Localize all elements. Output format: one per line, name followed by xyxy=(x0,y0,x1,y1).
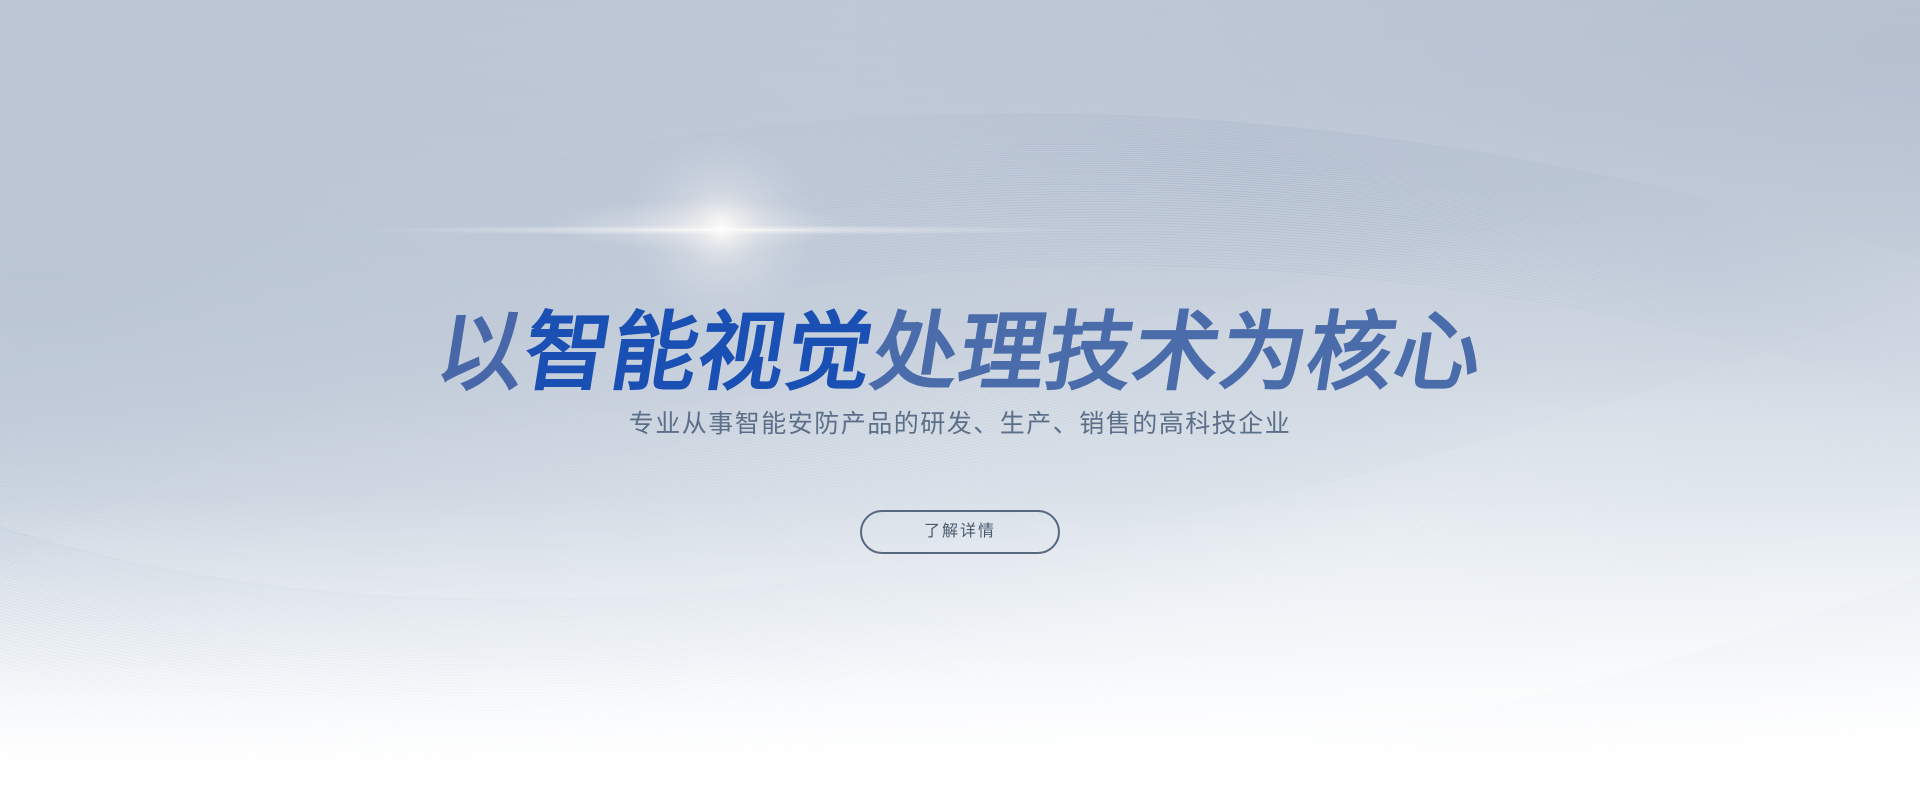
learn-more-button[interactable]: 了解详情 xyxy=(860,510,1060,554)
hero-banner: 以智能视觉处理技术为核心 专业从事智能安防产品的研发、生产、销售的高科技企业 了… xyxy=(0,0,1920,800)
headline-segment-3: 处理技术为核心 xyxy=(866,310,1489,396)
banner-headline: 以智能视觉处理技术为核心 xyxy=(0,310,1920,396)
cta-container: 了解详情 xyxy=(0,510,1920,554)
banner-subtitle: 专业从事智能安防产品的研发、生产、销售的高科技企业 xyxy=(0,404,1920,440)
headline-segment-1: 以 xyxy=(431,310,532,396)
headline-segment-2: 智能视觉 xyxy=(518,310,880,396)
banner-content: 以智能视觉处理技术为核心 专业从事智能安防产品的研发、生产、销售的高科技企业 了… xyxy=(0,0,1920,800)
